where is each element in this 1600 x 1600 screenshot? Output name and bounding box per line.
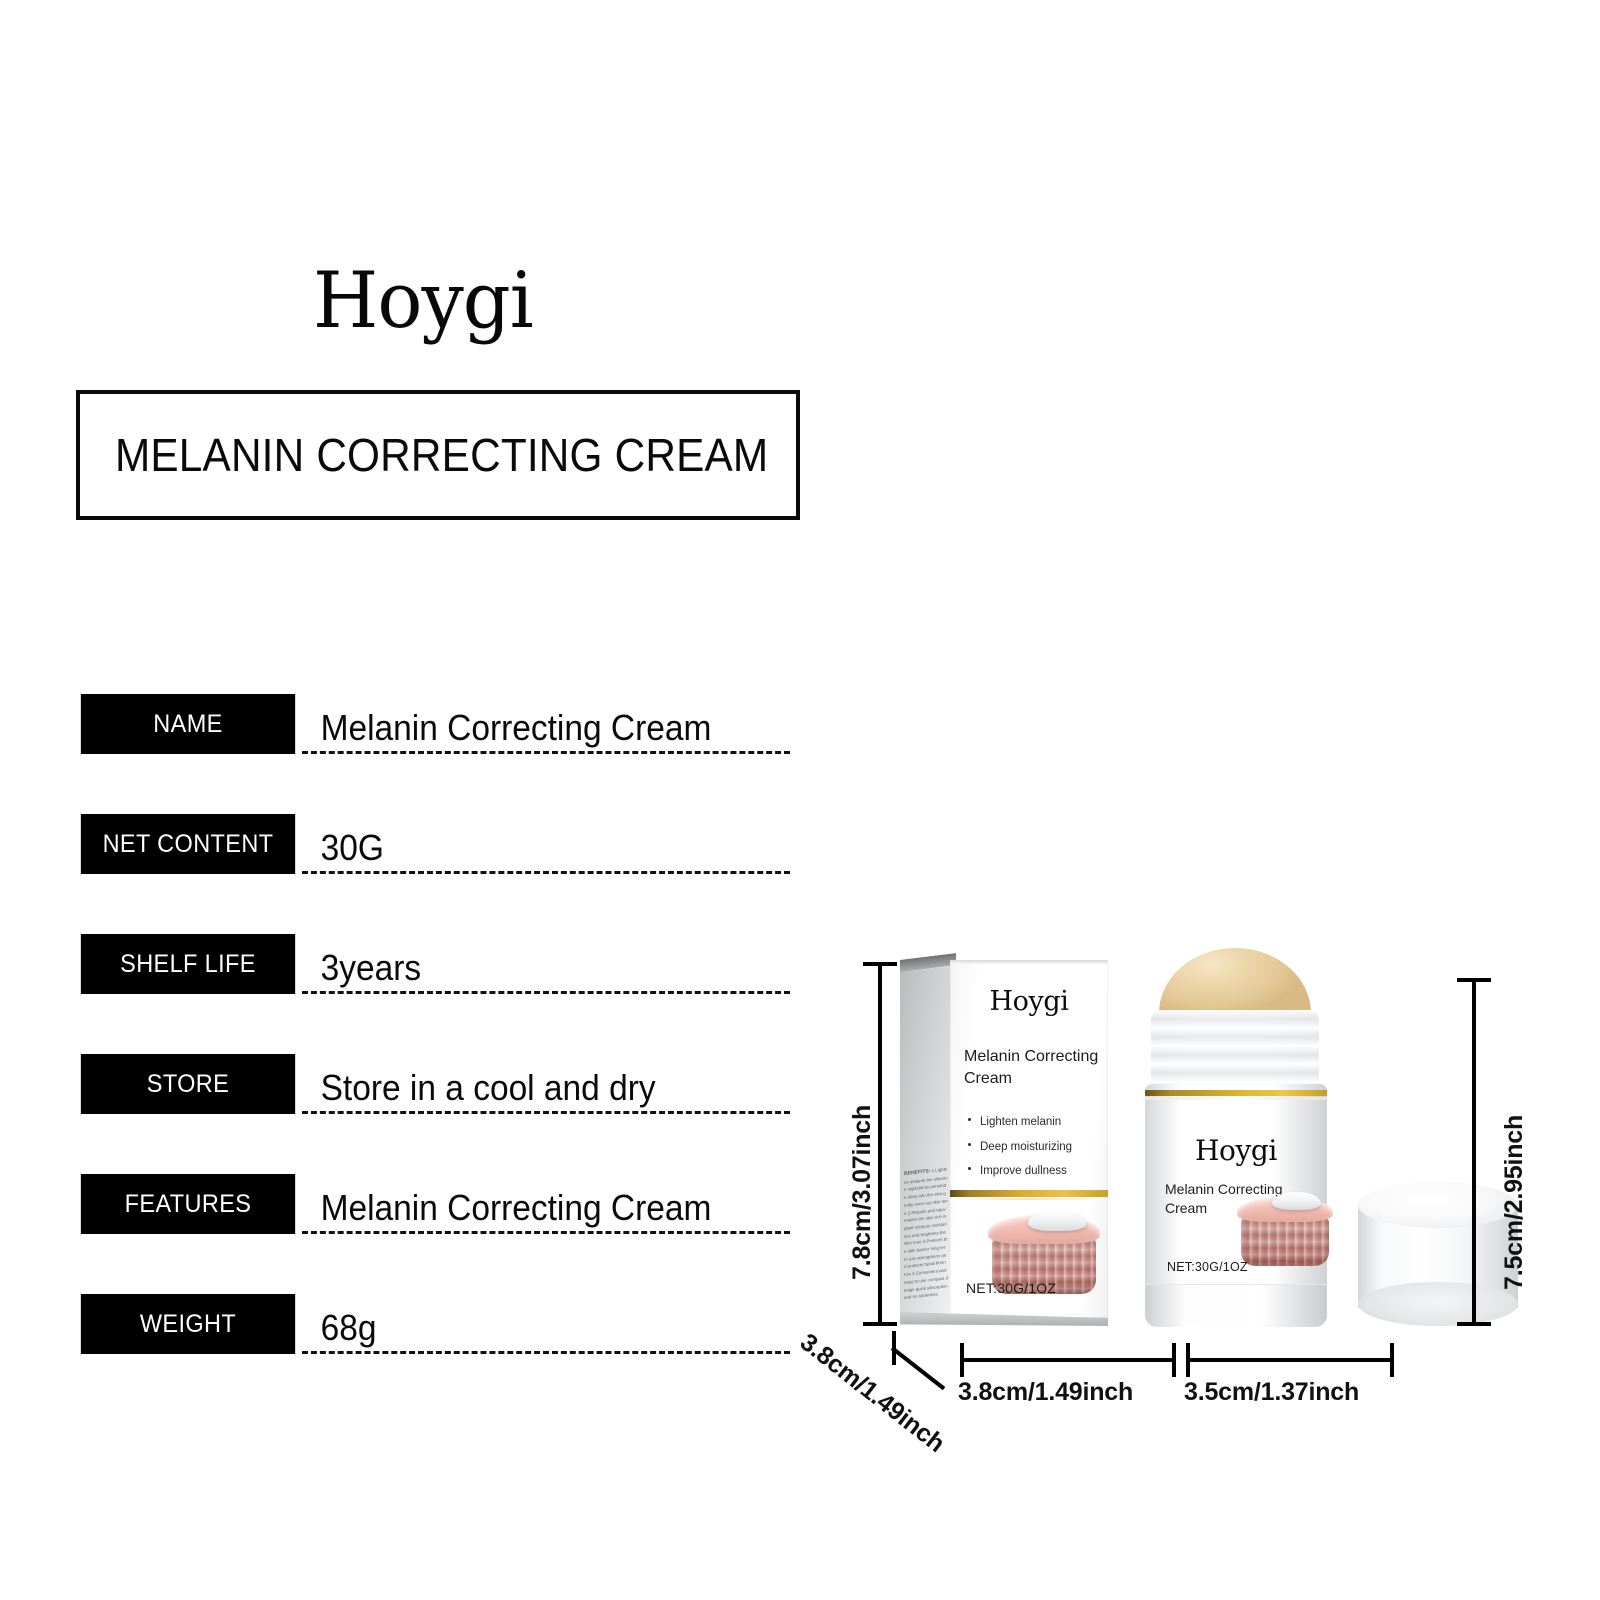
list-item: Deep moisturizing [968, 1135, 1102, 1160]
carton-artwork: Hoygi Melanin Correcting Cream Lighten m… [950, 960, 1108, 1318]
spec-value-features: Melanin Correcting Cream [302, 1189, 711, 1231]
brand-logo: Hoygi [313, 262, 533, 340]
stick-net-weight: NET:30G/1OZ [1167, 1260, 1248, 1274]
dimension-cap-left [960, 1343, 964, 1377]
table-row: SHELF LIFE 3years [74, 934, 790, 994]
dimension-label-carton-width: 3.8cm/1.49inch [958, 1378, 1133, 1407]
spec-value-cell: Store in a cool and dry [302, 1054, 790, 1114]
skin-cream-blob [1272, 1192, 1322, 1210]
spec-value-shelf-life: 3years [302, 949, 421, 991]
dimension-line-carton-width [960, 1358, 1176, 1362]
spec-label-net-content: NET CONTENT [81, 814, 295, 874]
spec-label-store: STORE [81, 1054, 295, 1114]
skin-cream-blob [1028, 1210, 1086, 1231]
specification-table: NAME Melanin Correcting Cream NET CONTEN… [74, 694, 790, 1354]
table-row: STORE Store in a cool and dry [74, 1054, 790, 1114]
spec-value-cell: 3years [302, 934, 790, 994]
product-stick-applicator: Hoygi Melanin Correcting Cream NET:30G/1… [1145, 948, 1327, 1326]
dimension-label-stick-height: 7.5cm/2.95inch [1500, 1115, 1529, 1290]
carton-benefit-list: Lighten melanin Deep moisturizing Improv… [968, 1110, 1102, 1184]
dimension-cap-bottom [1457, 1322, 1491, 1326]
product-cap [1358, 1182, 1518, 1328]
stick-brand-logo: Hoygi [1145, 1134, 1327, 1167]
dimension-label-carton-depth: 3.8cm/1.49inch [794, 1328, 950, 1459]
product-carton: Hoygi Melanin Correcting Cream Lighten m… [900, 960, 1108, 1320]
carton-brand-logo: Hoygi [950, 986, 1108, 1017]
carton-side-fineprint-body: 1.Lightens melanin the effective ingredi… [904, 1166, 948, 1300]
carton-side-fineprint: BENEFITS: 1.Lightens melanin the effecti… [904, 1165, 948, 1300]
carton-side-fineprint-heading: BENEFITS: [904, 1168, 930, 1177]
stick-skin-illustration [1237, 1192, 1333, 1268]
stick-base [1145, 1284, 1327, 1327]
dimension-cap-top [1457, 978, 1491, 982]
carton-net-weight: NET:30G/1OZ [966, 1280, 1056, 1296]
spec-value-net-content: 30G [302, 829, 384, 871]
dimension-line-stick-width [1186, 1358, 1394, 1362]
table-row: FEATURES Melanin Correcting Cream [74, 1174, 790, 1234]
carton-gold-stripe [950, 1190, 1108, 1197]
dimension-cap-left [892, 1331, 896, 1365]
spec-label-name: NAME [81, 694, 295, 754]
list-item: Improve dullness [968, 1159, 1102, 1184]
spec-value-cell: Melanin Correcting Cream [302, 1174, 790, 1234]
spec-value-weight: 68g [302, 1309, 376, 1351]
product-title-box: MELANIN CORRECTING CREAM [76, 390, 800, 520]
carton-product-name: Melanin Correcting Cream [964, 1046, 1102, 1089]
product-image-composition: 7.8cm/3.07inch Hoygi Melanin Correcting … [800, 920, 1560, 1440]
dimension-cap-left [1186, 1343, 1190, 1377]
dimension-cap-right [1390, 1343, 1394, 1377]
dimension-cap-right [1172, 1343, 1176, 1377]
dimension-cap-bottom [863, 1322, 897, 1326]
page-title: MELANIN CORRECTING CREAM [80, 428, 768, 482]
dimension-label-stick-width: 3.5cm/1.37inch [1184, 1378, 1359, 1407]
spec-value-store: Store in a cool and dry [302, 1069, 656, 1111]
spec-label-features: FEATURES [81, 1174, 295, 1234]
spec-value-cell: 68g [302, 1294, 790, 1354]
stick-gold-stripe [1145, 1090, 1327, 1096]
dimension-line-carton-depth [891, 1346, 945, 1390]
spec-label-weight: WEIGHT [81, 1294, 295, 1354]
dimension-line-stick-height [1472, 978, 1476, 1326]
table-row: WEIGHT 68g [74, 1294, 790, 1354]
cap-top-face [1358, 1182, 1518, 1228]
cap-bottom-face [1358, 1282, 1518, 1326]
skin-dermis-layer [1241, 1215, 1329, 1267]
table-row: NET CONTENT 30G [74, 814, 790, 874]
spec-value-cell: Melanin Correcting Cream [302, 694, 790, 754]
spec-sheet-page: Hoygi MELANIN CORRECTING CREAM NAME Mela… [0, 0, 1600, 1600]
table-row: NAME Melanin Correcting Cream [74, 694, 790, 754]
dimension-cap-top [863, 962, 897, 966]
list-item: Lighten melanin [968, 1110, 1102, 1135]
carton-gold-stripe-highlight [950, 1198, 1108, 1200]
spec-label-shelf-life: SHELF LIFE [81, 934, 295, 994]
spec-value-cell: 30G [302, 814, 790, 874]
stick-gold-stripe-highlight [1145, 1097, 1327, 1100]
dimension-line-carton-height [878, 962, 882, 1326]
spec-value-name: Melanin Correcting Cream [302, 709, 711, 751]
dimension-label-carton-height: 7.8cm/3.07inch [848, 1105, 877, 1280]
